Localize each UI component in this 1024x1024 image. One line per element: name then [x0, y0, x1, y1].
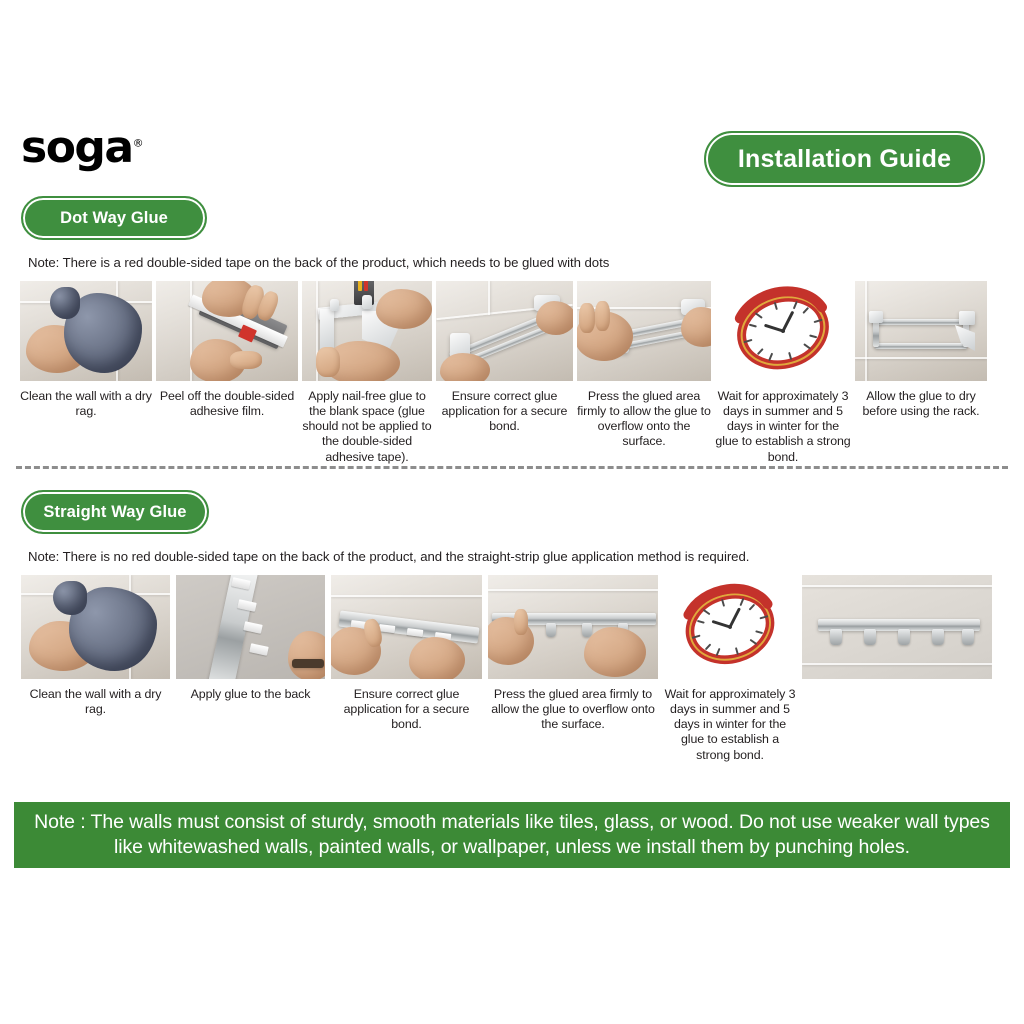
step-installed-hook-rail — [799, 575, 995, 687]
straight-way-glue-badge: Straight Way Glue — [21, 490, 209, 534]
installation-guide-badge-label: Installation Guide — [738, 145, 951, 174]
photo-installed-hook-rail — [802, 575, 992, 679]
installation-guide-badge: Installation Guide — [704, 131, 985, 187]
registered-trademark-icon: ® — [133, 136, 144, 149]
page-header: soga® Installation Guide — [0, 118, 1024, 198]
dot-way-glue-steps: Clean the wall with a dry rag. — [0, 281, 1024, 465]
footer-note-text: Note : The walls must consist of sturdy,… — [28, 810, 996, 861]
photo-hand-wiping-tile-wall-with-rag — [20, 281, 152, 381]
straight-way-glue-note: Note: There is no red double-sided tape … — [28, 549, 1024, 564]
clock-icon — [672, 581, 788, 673]
straight-way-glue-badge-label: Straight Way Glue — [43, 503, 186, 522]
step-caption: Apply glue to the back — [176, 687, 325, 702]
footer-note-banner: Note : The walls must consist of sturdy,… — [14, 802, 1010, 868]
photo-clock-icon — [715, 281, 851, 381]
photo-mounting-towel-rail-on-wall — [436, 281, 573, 381]
step-peel-film: Peel off the double-sided adhesive film. — [154, 281, 300, 419]
clock-icon — [723, 285, 843, 377]
photo-glue-strips-on-hook-rail-back — [176, 575, 325, 679]
photo-clock-icon — [664, 575, 796, 679]
dot-way-glue-badge: Dot Way Glue — [21, 196, 207, 240]
step-caption: Wait for approximately 3 days in summer … — [715, 389, 851, 465]
step-ensure-correct-glue: Ensure correct glue application for a se… — [328, 575, 485, 732]
photo-pressing-hook-rail-to-wall — [488, 575, 658, 679]
section-straight-way-glue: Straight Way Glue Note: There is no red … — [0, 490, 1024, 763]
step-press-glued-area: Press the glued area firmly to allow the… — [575, 281, 713, 450]
step-apply-glue-to-back: Apply glue to the back — [173, 575, 328, 702]
photo-pressing-rail-against-wall — [577, 281, 711, 381]
straight-way-glue-steps: Clean the wall with a dry rag. Apply glu… — [0, 575, 1024, 763]
step-caption: Ensure correct glue application for a se… — [331, 687, 482, 732]
step-caption: Peel off the double-sided adhesive film. — [156, 389, 298, 419]
photo-applying-glue-to-bracket — [302, 281, 432, 381]
step-caption: Allow the glue to dry before using the r… — [855, 389, 987, 419]
logo-wordmark: soga — [21, 122, 133, 173]
dot-way-glue-badge-label: Dot Way Glue — [60, 209, 168, 228]
step-caption: Press the glued area firmly to allow the… — [577, 389, 711, 450]
step-caption: Clean the wall with a dry rag. — [20, 389, 152, 419]
step-apply-nail-free-glue: Apply nail-free glue to the blank space … — [300, 281, 434, 465]
step-caption: Clean the wall with a dry rag. — [21, 687, 170, 717]
step-caption: Apply nail-free glue to the blank space … — [302, 389, 432, 465]
section-dot-way-glue: Dot Way Glue Note: There is a red double… — [0, 196, 1024, 465]
section-divider — [16, 466, 1008, 469]
photo-hand-wiping-tile-wall-with-rag — [21, 575, 170, 679]
soga-logo: soga® — [21, 126, 144, 170]
step-caption: Press the glued area firmly to allow the… — [488, 687, 658, 732]
step-caption: Ensure correct glue application for a se… — [436, 389, 573, 434]
photo-installed-towel-rack — [855, 281, 987, 381]
photo-hands-peeling-adhesive-film — [156, 281, 298, 381]
photo-holding-hook-rail-to-wall — [331, 575, 482, 679]
step-wait-for-cure: Wait for approximately 3 days in summer … — [713, 281, 853, 465]
dot-way-glue-note: Note: There is a red double-sided tape o… — [28, 255, 1024, 270]
step-wait-for-cure: Wait for approximately 3 days in summer … — [661, 575, 799, 763]
installation-guide-page: soga® Installation Guide Dot Way Glue No… — [0, 0, 1024, 1024]
step-ensure-correct-glue: Ensure correct glue application for a se… — [434, 281, 575, 434]
step-allow-glue-to-dry: Allow the glue to dry before using the r… — [853, 281, 989, 419]
step-caption: Wait for approximately 3 days in summer … — [664, 687, 796, 763]
step-clean-wall: Clean the wall with a dry rag. — [18, 575, 173, 717]
step-press-glued-area: Press the glued area firmly to allow the… — [485, 575, 661, 732]
step-clean-wall: Clean the wall with a dry rag. — [18, 281, 154, 419]
